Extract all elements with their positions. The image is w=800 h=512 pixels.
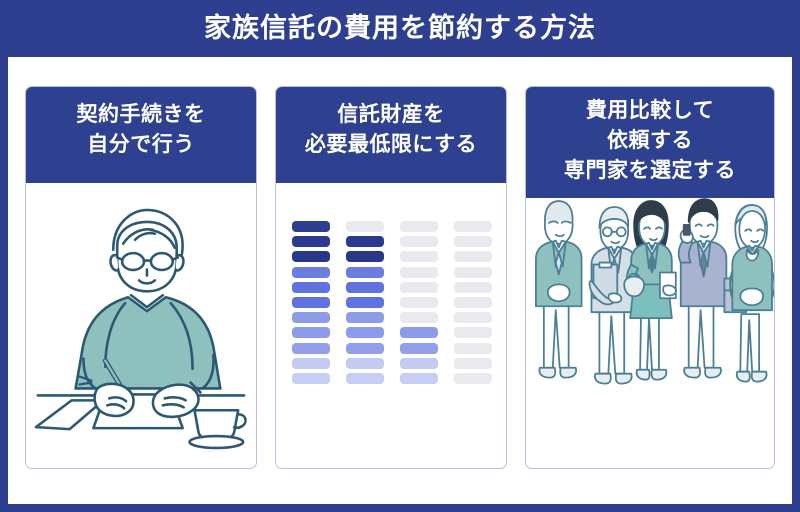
bar-segment-empty bbox=[400, 267, 438, 278]
bar-segment-filled bbox=[346, 282, 384, 293]
bar-segment-empty bbox=[400, 312, 438, 323]
bar-segment-empty bbox=[454, 297, 492, 308]
card-3-header: 費用比較して 依頼する 専門家を選定する bbox=[525, 86, 775, 198]
bar-segment-empty bbox=[400, 251, 438, 262]
card-1-header: 契約手続きを 自分で行う bbox=[25, 86, 257, 183]
bar-segment-filled bbox=[400, 358, 438, 369]
card-1-title-line-2: 自分で行う bbox=[25, 130, 257, 160]
card-1-title-line-1: 契約手続きを bbox=[25, 100, 257, 130]
page-title: 家族信託の費用を節約する方法 bbox=[204, 15, 596, 42]
five-business-professionals-icon bbox=[526, 198, 774, 469]
card-compare-and-select-expert[interactable]: 費用比較して 依頼する 専門家を選定する bbox=[525, 86, 775, 469]
bar-segment-filled bbox=[400, 343, 438, 354]
card-list: 契約手続きを 自分で行う bbox=[25, 86, 775, 469]
bar-segment-filled bbox=[292, 236, 330, 247]
bar-segment-empty bbox=[400, 221, 438, 232]
bar-segment-filled bbox=[292, 373, 330, 384]
bar-segment-empty bbox=[454, 221, 492, 232]
bar-segment-filled bbox=[292, 327, 330, 338]
bar-segment-filled bbox=[346, 251, 384, 262]
bar-segment-filled bbox=[346, 327, 384, 338]
bar-segment-filled bbox=[346, 236, 384, 247]
bar-column bbox=[292, 221, 330, 391]
bar-segment-filled bbox=[346, 373, 384, 384]
card-3-title-line-1: 費用比較して bbox=[525, 96, 775, 126]
card-2-title-line-1: 信託財産を bbox=[275, 100, 507, 130]
card-2-header: 信託財産を 必要最低限にする bbox=[275, 86, 507, 183]
bar-column bbox=[400, 221, 438, 391]
page-title-band: 家族信託の費用を節約する方法 bbox=[0, 0, 800, 57]
card-contract-self[interactable]: 契約手続きを 自分で行う bbox=[25, 86, 257, 469]
page-body: 契約手続きを 自分で行う bbox=[8, 57, 792, 504]
bar-segment-filled bbox=[400, 373, 438, 384]
bar-segment-filled bbox=[292, 343, 330, 354]
bar-segment-empty bbox=[454, 312, 492, 323]
card-2-title-line-2: 必要最低限にする bbox=[275, 130, 507, 160]
bar-segment-empty bbox=[454, 327, 492, 338]
bar-segment-empty bbox=[454, 267, 492, 278]
bar-segment-empty bbox=[400, 282, 438, 293]
bar-segment-filled bbox=[292, 312, 330, 323]
bar-segment-empty bbox=[454, 373, 492, 384]
bar-segment-filled bbox=[292, 282, 330, 293]
bar-segment-filled bbox=[346, 267, 384, 278]
bar-segment-filled bbox=[346, 312, 384, 323]
bar-segment-empty bbox=[454, 358, 492, 369]
card-3-title-line-2: 依頼する bbox=[525, 126, 775, 156]
bar-segment-empty bbox=[454, 343, 492, 354]
bar-segment-filled bbox=[346, 343, 384, 354]
bar-segment-filled bbox=[346, 358, 384, 369]
elderly-person-writing-document-icon bbox=[26, 183, 256, 469]
card-minimize-trust-assets[interactable]: 信託財産を 必要最低限にする bbox=[275, 86, 507, 469]
bar-segment-filled bbox=[400, 327, 438, 338]
bar-segment-empty bbox=[454, 282, 492, 293]
bar-segment-filled bbox=[292, 358, 330, 369]
bar-segment-empty bbox=[400, 297, 438, 308]
segmented-bar-chart bbox=[292, 221, 492, 391]
bar-column bbox=[346, 221, 384, 391]
card-3-title-line-3: 専門家を選定する bbox=[525, 156, 775, 186]
bar-segment-filled bbox=[292, 267, 330, 278]
bar-segment-empty bbox=[400, 236, 438, 247]
infographic-page: 家族信託の費用を節約する方法 契約手続きを 自分で行う bbox=[0, 0, 800, 512]
bar-segment-filled bbox=[292, 221, 330, 232]
bar-segment-empty bbox=[454, 236, 492, 247]
bar-segment-filled bbox=[292, 297, 330, 308]
segmented-bar-chart-icon bbox=[276, 183, 506, 469]
bar-column bbox=[454, 221, 492, 391]
bar-segment-empty bbox=[346, 221, 384, 232]
bar-segment-filled bbox=[346, 297, 384, 308]
bar-segment-filled bbox=[292, 251, 330, 262]
bar-segment-empty bbox=[454, 251, 492, 262]
